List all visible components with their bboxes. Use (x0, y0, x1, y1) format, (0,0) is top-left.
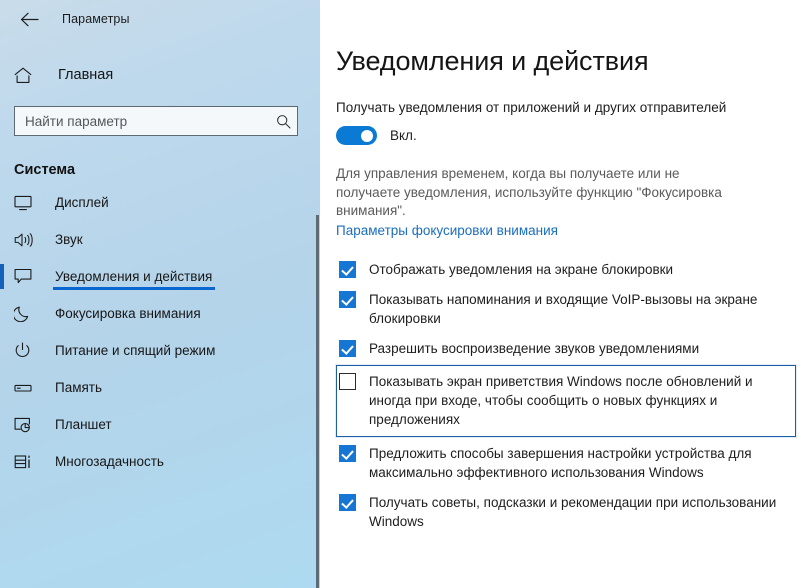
checkbox-checked-icon[interactable] (339, 291, 356, 308)
sidebar-item-home[interactable]: Главная (0, 58, 320, 92)
checkbox-row[interactable]: Предложить способы завершения настройки … (336, 440, 796, 486)
page-title: Уведомления и действия (336, 0, 812, 77)
sidebar-item-label: Фокусировка внимания (55, 304, 201, 324)
sidebar-item-display[interactable]: Дисплей (0, 184, 320, 221)
drive-icon (14, 382, 40, 394)
main-content: Уведомления и действия Получать уведомле… (320, 0, 812, 588)
sidebar-item-label: Планшет (55, 415, 112, 435)
sidebar-scrollbar[interactable] (316, 215, 319, 588)
home-label: Главная (58, 67, 113, 83)
home-icon (14, 67, 44, 84)
checkbox-label: Предложить способы завершения настройки … (369, 444, 789, 482)
sidebar-item-tablet[interactable]: Планшет (0, 406, 320, 443)
notifications-toggle[interactable] (336, 126, 377, 145)
sidebar-item-multitasking[interactable]: Многозадачность (0, 443, 320, 480)
back-arrow-icon[interactable] (14, 6, 44, 32)
search-input[interactable] (15, 107, 269, 135)
toggle-state-label: Вкл. (390, 128, 417, 143)
checkbox-unchecked-icon[interactable] (339, 373, 356, 390)
checkbox-checked-icon[interactable] (339, 261, 356, 278)
sidebar-item-label: Дисплей (55, 193, 109, 213)
sidebar: Параметры Главная Система (0, 0, 320, 588)
checkbox-label: Получать советы, подсказки и рекомендаци… (369, 493, 789, 531)
multitask-icon (14, 454, 40, 470)
checkbox-row-focused[interactable]: Показывать экран приветствия Windows пос… (336, 365, 796, 437)
notifications-subtitle: Получать уведомления от приложений и дру… (336, 99, 812, 116)
search-box[interactable] (14, 106, 298, 136)
search-icon[interactable] (269, 114, 297, 129)
notifications-toggle-row: Вкл. (336, 126, 812, 145)
checkbox-row[interactable]: Отображать уведомления на экране блокиро… (336, 256, 796, 283)
sidebar-item-label: Питание и спящий режим (55, 341, 215, 361)
notification-options-list: Отображать уведомления на экране блокиро… (336, 256, 812, 535)
sidebar-item-power-sleep[interactable]: Питание и спящий режим (0, 332, 320, 369)
sidebar-item-focus-assist[interactable]: Фокусировка внимания (0, 295, 320, 332)
window-title: Параметры (62, 12, 130, 26)
sidebar-item-sound[interactable]: Звук (0, 221, 320, 258)
speaker-icon (14, 232, 40, 248)
checkbox-label: Показывать напоминания и входящие VoIP-в… (369, 290, 789, 328)
sidebar-item-label: Уведомления и действия (55, 267, 212, 287)
power-icon (14, 342, 40, 359)
checkbox-checked-icon[interactable] (339, 445, 356, 462)
checkbox-label: Отображать уведомления на экране блокиро… (369, 260, 673, 279)
checkbox-row[interactable]: Показывать напоминания и входящие VoIP-в… (336, 286, 796, 332)
title-bar: Параметры (0, 0, 320, 38)
moon-icon (14, 305, 40, 322)
chat-bubble-icon (14, 268, 40, 285)
sidebar-nav: Дисплей Звук (0, 184, 320, 480)
focus-assist-settings-link[interactable]: Параметры фокусировки внимания (336, 223, 558, 238)
sidebar-item-label: Память (55, 378, 102, 398)
sidebar-section-title: Система (0, 162, 320, 178)
checkbox-label: Показывать экран приветствия Windows пос… (369, 372, 789, 429)
sidebar-item-storage[interactable]: Память (0, 369, 320, 406)
sidebar-item-label: Многозадачность (55, 452, 164, 472)
sidebar-item-notifications[interactable]: Уведомления и действия (0, 258, 320, 295)
sidebar-item-label: Звук (55, 230, 83, 250)
settings-window: Параметры Главная Система (0, 0, 812, 588)
toggle-knob (361, 130, 373, 142)
focus-assist-description: Для управления временем, когда вы получа… (336, 165, 728, 221)
checkbox-checked-icon[interactable] (339, 494, 356, 511)
checkbox-row[interactable]: Получать советы, подсказки и рекомендаци… (336, 489, 796, 535)
tablet-icon (14, 417, 40, 433)
checkbox-label: Разрешить воспроизведение звуков уведомл… (369, 339, 699, 358)
checkbox-row[interactable]: Разрешить воспроизведение звуков уведомл… (336, 335, 796, 362)
checkbox-checked-icon[interactable] (339, 340, 356, 357)
monitor-icon (14, 195, 40, 211)
